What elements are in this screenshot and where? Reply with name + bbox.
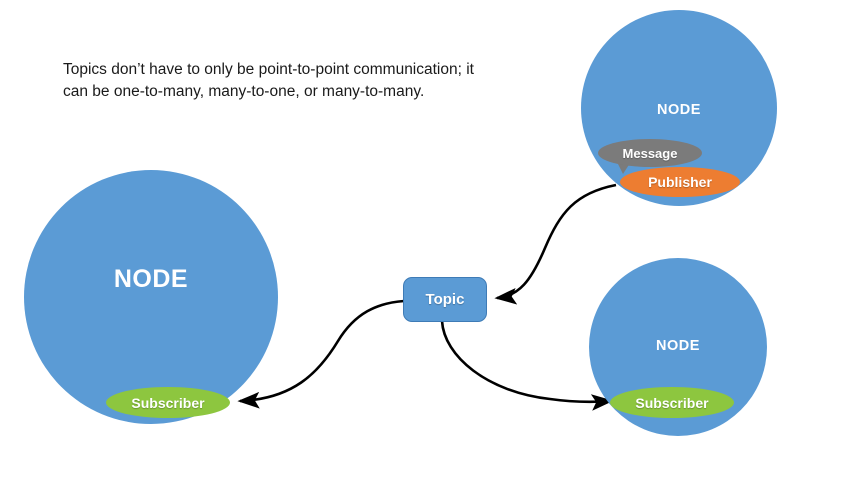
edge-publisher-to-topic bbox=[497, 185, 616, 298]
message-bubble[interactable]: Message bbox=[598, 139, 702, 167]
node-bottom-right-label: NODE bbox=[589, 338, 767, 354]
node-left[interactable]: NODE bbox=[24, 170, 278, 424]
topic-label: Topic bbox=[426, 291, 465, 308]
caption-text: Topics don’t have to only be point-to-po… bbox=[63, 59, 483, 103]
subscriber-pill-bottom-right[interactable]: Subscriber bbox=[610, 387, 734, 418]
topic-box[interactable]: Topic bbox=[403, 277, 487, 322]
node-top-right-label: NODE bbox=[581, 102, 777, 118]
subscriber-pill-left[interactable]: Subscriber bbox=[106, 387, 230, 418]
publisher-pill[interactable]: Publisher bbox=[620, 167, 740, 197]
diagram-canvas: Topics don’t have to only be point-to-po… bbox=[0, 0, 854, 480]
node-left-label: NODE bbox=[24, 265, 278, 294]
edge-topic-to-subscriber-bottomright bbox=[442, 321, 611, 402]
